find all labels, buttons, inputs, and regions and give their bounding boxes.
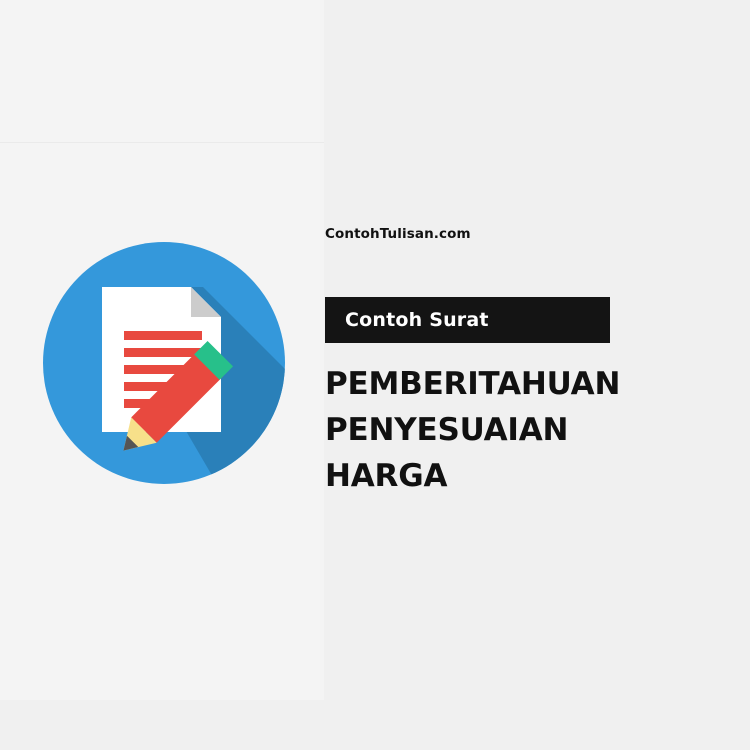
site-name: ContohTulisan.com (325, 226, 471, 242)
page-title: PEMBERITAHUAN PENYESUAIAN HARGA (325, 361, 675, 499)
status-badge-label: Contoh Surat (345, 297, 489, 343)
page-title-line-1: PEMBERITAHUAN (325, 361, 675, 407)
page-title-line-3: HARGA (325, 453, 675, 499)
page-title-line-2: PENYESUAIAN (325, 407, 675, 453)
page-canvas: ContohTulisan.com Contoh Surat PEMBERITA… (0, 0, 750, 750)
content-column: ContohTulisan.com Contoh Surat PEMBERITA… (325, 0, 750, 750)
status-badge: Contoh Surat (325, 297, 610, 343)
document-with-pencil-icon (43, 242, 285, 484)
panel-horizontal-divider (0, 142, 324, 143)
